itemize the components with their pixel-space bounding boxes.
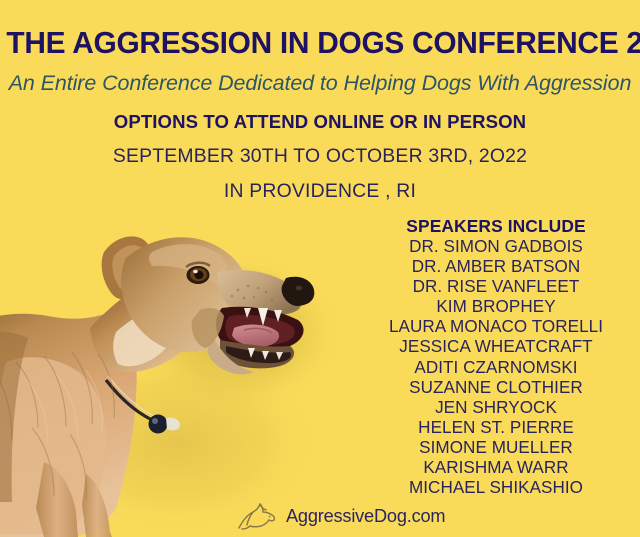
speaker-name: DR. SIMON GADBOIS xyxy=(376,237,616,257)
dog-head-outline-icon xyxy=(233,500,279,532)
speaker-name: JESSICA WHEATCRAFT xyxy=(376,337,616,357)
speaker-name: SIMONE MUELLER xyxy=(376,438,616,458)
brand-name: AggressiveDog.com xyxy=(286,506,445,527)
speaker-name: ADITI CZARNOMSKI xyxy=(376,358,616,378)
barking-dog-photo xyxy=(0,212,346,537)
conference-poster: THE AGGRESSION IN DOGS CONFERENCE 2022 A… xyxy=(0,0,640,537)
brand-logo: AggressiveDog.com xyxy=(233,499,445,533)
speaker-name: DR. RISE VANFLEET xyxy=(376,277,616,297)
speaker-name: HELEN ST. PIERRE xyxy=(376,418,616,438)
speaker-name: KARISHMA WARR xyxy=(376,458,616,478)
speaker-name: MICHAEL SHIKASHIO xyxy=(376,478,616,498)
speaker-name: KIM BROPHEY xyxy=(376,297,616,317)
speaker-name: LAURA MONACO TORELLI xyxy=(376,317,616,337)
speakers-heading: SPEAKERS INCLUDE xyxy=(376,216,616,237)
speaker-name: JEN SHRYOCK xyxy=(376,398,616,418)
speaker-name: SUZANNE CLOTHIER xyxy=(376,378,616,398)
event-date-line: SEPTEMBER 30TH TO OCTOBER 3RD, 2O22 xyxy=(0,145,640,168)
page-title: THE AGGRESSION IN DOGS CONFERENCE 2022 xyxy=(6,26,633,60)
event-location-line: IN PROVIDENCE , RI xyxy=(0,180,640,203)
speaker-name: DR. AMBER BATSON xyxy=(376,257,616,277)
subtitle: An Entire Conference Dedicated to Helpin… xyxy=(0,70,640,96)
attend-options-line: OPTIONS TO ATTEND ONLINE OR IN PERSON xyxy=(0,111,640,133)
speakers-block: SPEAKERS INCLUDE DR. SIMON GADBOIS DR. A… xyxy=(376,216,616,498)
